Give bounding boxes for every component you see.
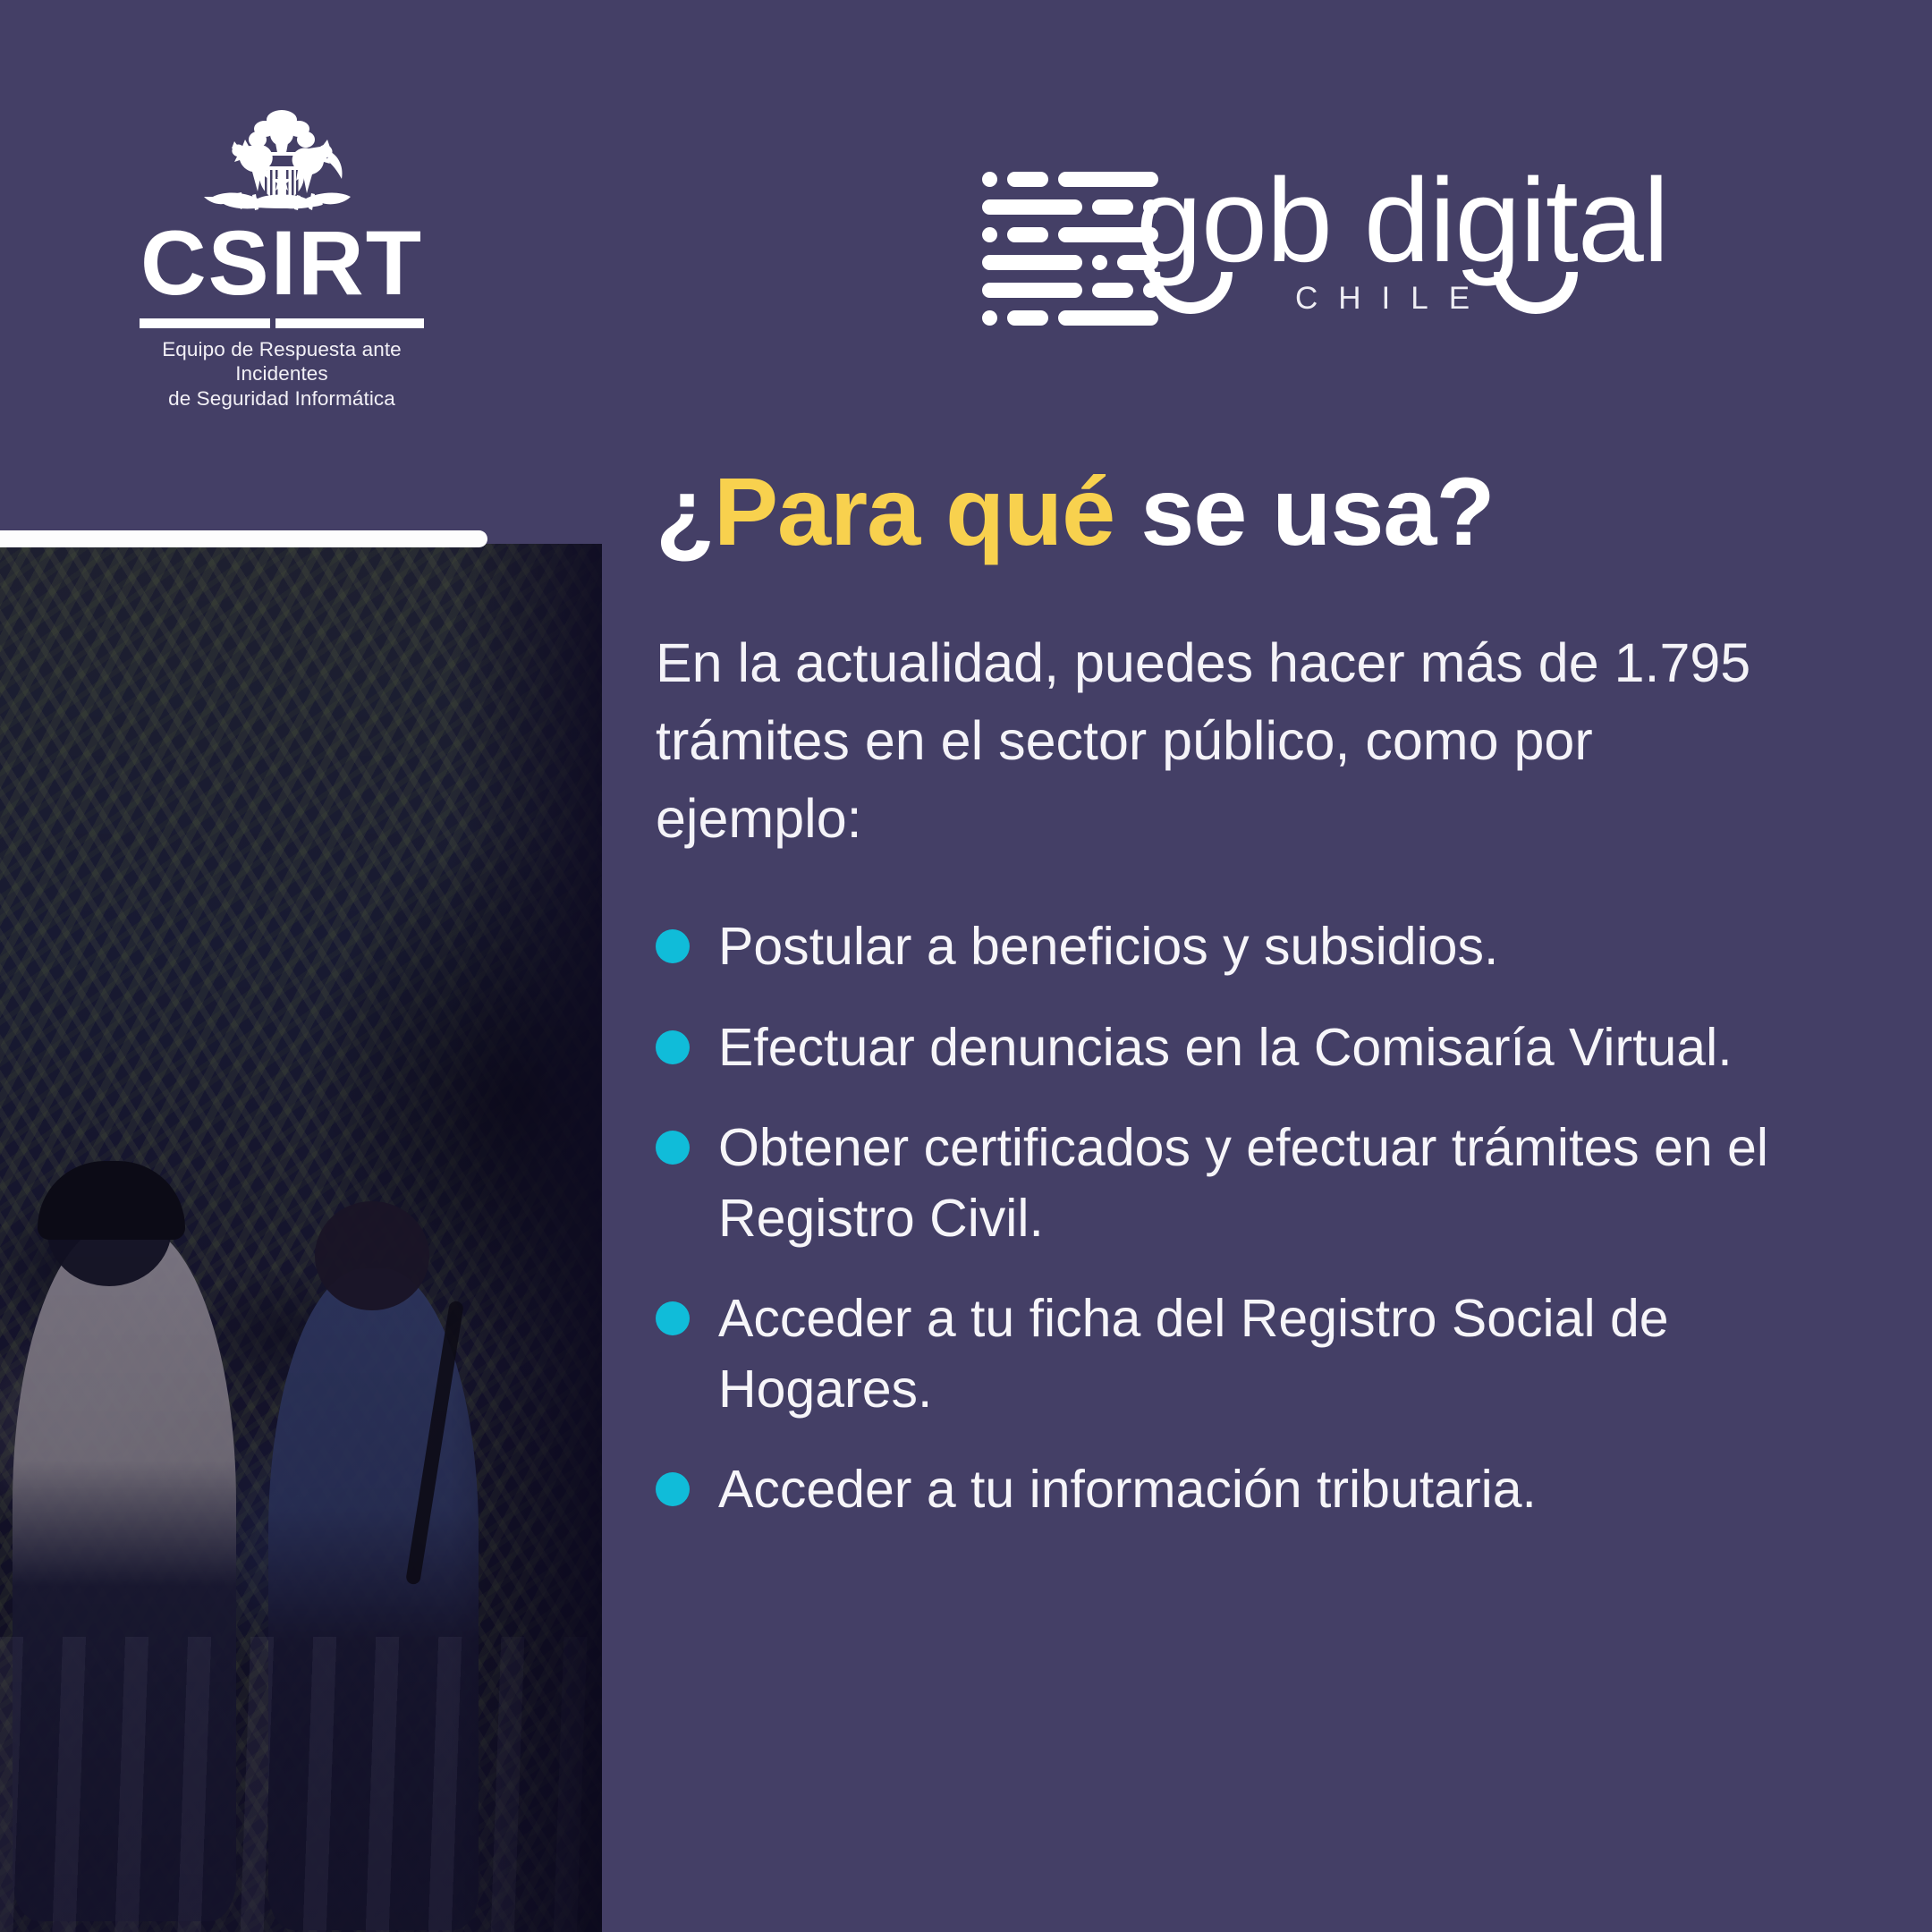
- bullet-dot-icon: [656, 1131, 690, 1165]
- photo-purple-tint: [0, 544, 602, 1932]
- list-item: Acceder a tu información tributaria.: [656, 1454, 1854, 1524]
- bullet-dot-icon: [656, 929, 690, 963]
- bullet-dot-icon: [656, 1472, 690, 1506]
- list-item-label: Acceder a tu información tributaria.: [718, 1454, 1537, 1524]
- list-item-label: Efectuar denuncias en la Comisaría Virtu…: [718, 1013, 1733, 1082]
- csirt-divider-segment-2: [275, 318, 424, 328]
- photo-top-rule: [0, 530, 487, 547]
- headline-rest: se usa?: [1114, 457, 1494, 565]
- chile-coat-of-arms-icon: [134, 106, 429, 213]
- list-item: Efectuar denuncias en la Comisaría Virtu…: [656, 1013, 1854, 1082]
- csirt-tagline-line-2: de Seguridad Informática: [134, 386, 429, 411]
- list-item: Acceder a tu ficha del Registro Social d…: [656, 1284, 1854, 1424]
- list-item: Obtener certificados y efectuar trámites…: [656, 1113, 1854, 1253]
- csirt-logo: CSIRT Equipo de Respuesta ante Incidente…: [134, 106, 429, 411]
- intro-paragraph: En la actualidad, puedes hacer más de 1.…: [656, 624, 1809, 857]
- usage-list: Postular a beneficios y subsidios. Efect…: [656, 911, 1854, 1524]
- page-title: ¿Para qué se usa?: [656, 463, 1854, 560]
- bullet-dot-icon: [656, 1030, 690, 1064]
- headline-highlight: Para qué: [714, 457, 1114, 565]
- list-item: Postular a beneficios y subsidios.: [656, 911, 1854, 981]
- main-content: ¿Para qué se usa? En la actualidad, pued…: [656, 0, 1854, 1555]
- poster-canvas: CSIRT Equipo de Respuesta ante Incidente…: [0, 0, 1932, 1932]
- csirt-divider: [140, 318, 424, 328]
- csirt-divider-segment-1: [140, 318, 270, 328]
- bullet-dot-icon: [656, 1301, 690, 1335]
- csirt-wordmark: CSIRT: [134, 216, 429, 309]
- list-item-label: Postular a beneficios y subsidios.: [718, 911, 1498, 981]
- csirt-tagline: Equipo de Respuesta ante Incidentes de S…: [134, 337, 429, 411]
- csirt-tagline-line-1: Equipo de Respuesta ante Incidentes: [134, 337, 429, 386]
- headline-open: ¿: [656, 457, 714, 565]
- list-item-label: Acceder a tu ficha del Registro Social d…: [718, 1284, 1818, 1424]
- left-photo: [0, 544, 602, 1932]
- list-item-label: Obtener certificados y efectuar trámites…: [718, 1113, 1818, 1253]
